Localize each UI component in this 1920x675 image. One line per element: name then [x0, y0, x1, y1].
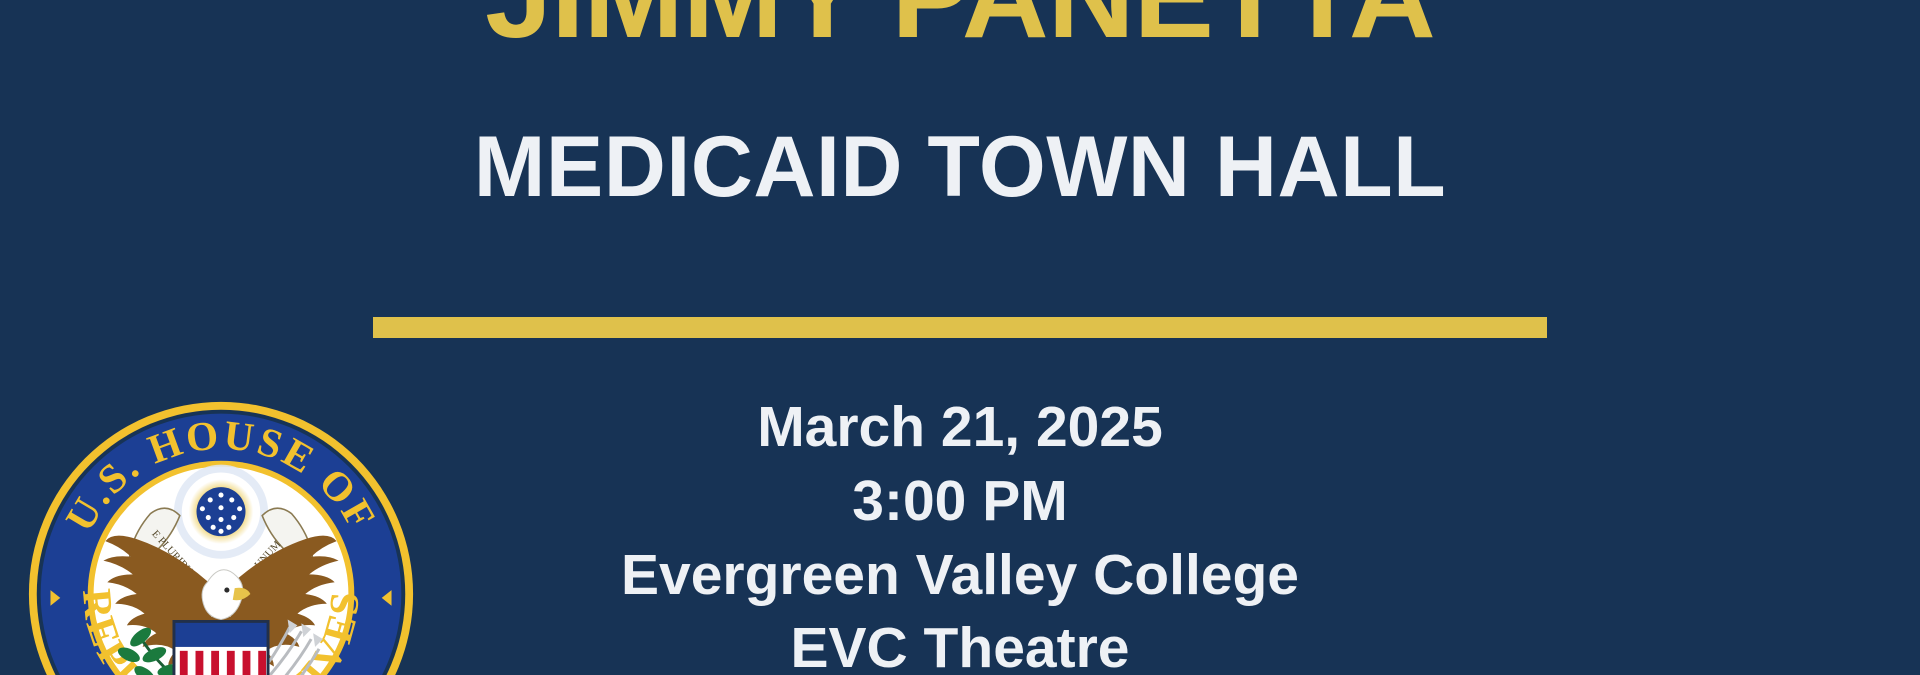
gold-divider-rule: [373, 317, 1547, 338]
headline-block: JIMMY PANETTA MEDICAID TOWN HALL: [0, 0, 1920, 210]
seal-shield: [174, 621, 268, 675]
event-subtitle: MEDICAID TOWN HALL: [0, 56, 1920, 210]
seal-svg: U.S. HOUSE OF REPRESENTATIVES: [25, 398, 417, 675]
page-title: JIMMY PANETTA: [0, 0, 1920, 56]
event-flyer: JIMMY PANETTA MEDICAID TOWN HALL March 2…: [0, 0, 1920, 675]
seal-glory: [174, 465, 268, 559]
divider-container: [0, 317, 1920, 338]
us-house-seal-icon: U.S. HOUSE OF REPRESENTATIVES: [25, 398, 417, 675]
